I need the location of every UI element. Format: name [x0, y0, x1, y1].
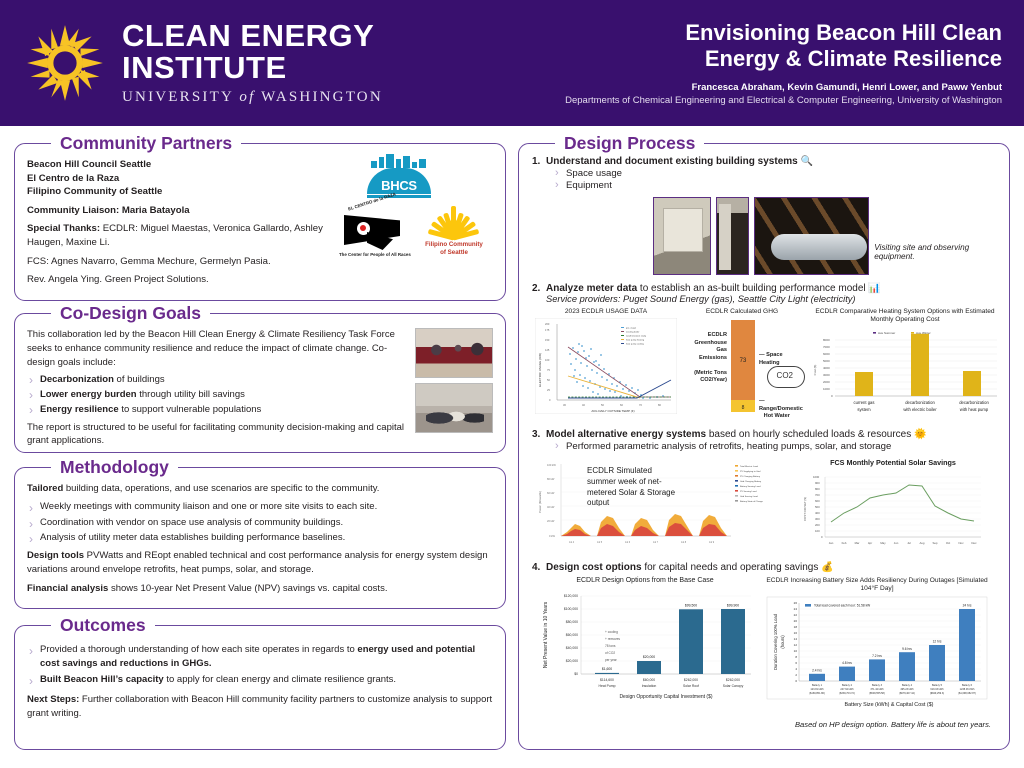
design-step-3-bullet-0: Performed parametric analysis of retrofi… — [554, 441, 999, 453]
svg-text:Nov: Nov — [959, 541, 965, 545]
cei-logo: CLEAN ENERGY INSTITUTE UNIVERSITY of WAS… — [0, 20, 500, 106]
chart-battery-svg: 262422 201816 141210 864 20 Duration Cov… — [765, 595, 989, 713]
special-thanks: Special Thanks: ECDLR: Miguel Maestas, V… — [27, 222, 333, 249]
svg-text:78 tons: 78 tons — [605, 644, 616, 648]
codesign-goal-1-rest: through utility bill savings — [137, 389, 245, 400]
svg-text:Battery State of Charge: Battery State of Charge — [740, 500, 764, 503]
chart-usage-svg: 02550 75100125 150175200 304050 607080 A… — [535, 318, 677, 414]
svg-text:($849,259.3): ($849,259.3) — [930, 692, 944, 695]
svg-text:20: 20 — [794, 619, 798, 623]
design-step-4-text: Design cost options for capital needs an… — [546, 562, 999, 573]
svg-text:Dec: Dec — [972, 541, 978, 545]
svg-text:123.81 kWh: 123.81 kWh — [810, 688, 824, 691]
svg-text:5000: 5000 — [823, 359, 830, 363]
svg-text:Grid Charging Battery: Grid Charging Battery — [740, 480, 762, 483]
methodology-tools-bold: Design tools — [27, 550, 84, 561]
svg-text:$99,900: $99,900 — [727, 603, 739, 607]
design-process-title: Design Process — [555, 133, 704, 154]
svg-text:371.42 kWh: 371.42 kWh — [870, 688, 884, 691]
svg-text:with electric boiler: with electric boiler — [903, 407, 937, 412]
design-step-1-bullet-1: Equipment — [554, 180, 999, 192]
svg-text:Battery 3: Battery 3 — [872, 684, 883, 687]
svg-text:decarbonization: decarbonization — [959, 400, 989, 405]
design-step-1-text: Understand and document existing buildin… — [546, 156, 999, 193]
methodology-financial-bold: Financial analysis — [27, 583, 108, 594]
chart-battery-resiliency: ECDLR Increasing Battery Size Adds Resil… — [765, 577, 989, 718]
svg-text:12: 12 — [794, 643, 798, 647]
design-step-1-bold: Understand and document existing buildin… — [546, 156, 798, 167]
filipino-logo-text: Filipino Community of Seattle — [417, 241, 491, 257]
duct-photo — [754, 197, 869, 275]
svg-text:COST OFFSET ($): COST OFFSET ($) — [803, 497, 807, 521]
svg-text:4000: 4000 — [823, 366, 830, 370]
svg-text:Battery 5: Battery 5 — [932, 684, 943, 687]
svg-text:($339,703.72): ($339,703.72) — [839, 692, 855, 695]
svg-text:495.23 kWh: 495.23 kWh — [900, 688, 914, 691]
svg-text:6000: 6000 — [823, 352, 830, 356]
design-step-2-sub: Service providers: Puget Sound Energy (g… — [546, 294, 999, 304]
svg-text:Jan: Jan — [829, 541, 834, 545]
svg-text:existing boiler: existing boiler — [626, 331, 640, 334]
svg-text:Sep: Sep — [933, 541, 938, 545]
svg-text:Jul 4: Jul 4 — [569, 541, 575, 544]
poster-title-block: Envisioning Beacon Hill Clean Energy & C… — [500, 20, 1024, 107]
design-step-1-bullet-0: Space usage — [554, 168, 999, 180]
svg-text:900: 900 — [815, 481, 820, 485]
methodology-financial-rest: shows 10-year Net Present Value (NPV) sa… — [108, 583, 387, 594]
boiler-photo — [653, 197, 711, 275]
sunburst-icon — [22, 20, 108, 106]
svg-text:175: 175 — [545, 328, 550, 332]
el-centro-bottom-text: The Center for People of All Races — [339, 252, 411, 257]
fcs-thanks: FCS: Agnes Navarro, Gemma Mechure, Germe… — [27, 255, 333, 269]
codesign-goal-0-bold: Decarbonization — [40, 374, 114, 385]
svg-text:($509,555.58): ($509,555.58) — [869, 692, 885, 695]
poster-title-line-1: Envisioning Beacon Hill Clean — [500, 20, 1002, 46]
svg-text:$80,000: $80,000 — [566, 620, 578, 624]
svg-text:Ave Summer: Ave Summer — [878, 331, 895, 335]
svg-text:$1,600: $1,600 — [602, 667, 612, 671]
community-hall-photo — [415, 383, 493, 433]
chart-npv-title: ECDLR Design Options from the Base Case — [533, 577, 757, 586]
codesign-goal-0-rest: of buildings — [114, 374, 165, 385]
chart-solar-storage-svg: 100 kW80 kW60 kW 40 kW20 kW0 kW Power (K… — [535, 458, 781, 546]
coin-icon: 💰 — [821, 562, 833, 573]
step2-charts-row: 2023 ECDLR USAGE DATA 02550 75100125 150… — [535, 308, 999, 421]
svg-text:$114,600: $114,600 — [600, 678, 614, 682]
svg-text:Insulation: Insulation — [642, 684, 657, 688]
chart-ecdlr-ghg: ECDLR Calculated GHG ECDLRGreenhouseGasE… — [683, 308, 801, 421]
outcomes-title: Outcomes — [51, 615, 155, 636]
svg-text:Mar: Mar — [855, 541, 860, 545]
svg-text:20 kW: 20 kW — [547, 519, 555, 523]
svg-text:9.6 hrs: 9.6 hrs — [902, 647, 912, 651]
svg-text:Jul 6: Jul 6 — [625, 541, 631, 544]
design-step-3-num: 3. — [529, 429, 546, 453]
methodology-lead: Tailored building data, operations, and … — [27, 482, 493, 496]
svg-text:0 kW: 0 kW — [549, 534, 555, 538]
chart-battery-title: ECDLR Increasing Battery Size Adds Resil… — [765, 577, 989, 593]
methodology-bullet-1: Coordination with vendor on space use an… — [27, 516, 493, 530]
site-photos-row: Visiting site and observing equipment. — [653, 197, 999, 275]
co2-label: CO2 — [777, 371, 793, 380]
svg-text:$262,000: $262,000 — [684, 678, 698, 682]
svg-text:Grid Serving Load: Grid Serving Load — [740, 495, 758, 498]
panel-design-process: Design Process 1. Understand and documen… — [518, 143, 1010, 750]
design-step-4-num: 4. — [529, 562, 546, 573]
svg-text:($169,851.86): ($169,851.86) — [809, 692, 825, 695]
svg-text:619.03 kWh: 619.03 kWh — [930, 688, 944, 691]
bhcs-logo: BHCS — [367, 154, 431, 198]
svg-text:with heat pump: with heat pump — [960, 407, 989, 412]
chart-ghg-left-label: ECDLRGreenhouseGasEmissions(Metric TonsC… — [683, 332, 727, 385]
methodology-body: Tailored building data, operations, and … — [15, 468, 505, 608]
svg-text:22: 22 — [794, 613, 798, 617]
logo-line-2: INSTITUTE — [122, 52, 383, 84]
svg-text:heat pump heating: heat pump heating — [626, 339, 645, 342]
svg-text:Feb: Feb — [842, 541, 847, 545]
rev-thanks: Rev. Angela Ying. Green Project Solution… — [27, 273, 333, 287]
svg-text:1000: 1000 — [813, 475, 820, 479]
panel-methodology: Methodology Tailored building data, oper… — [14, 467, 506, 609]
svg-text:10: 10 — [794, 649, 798, 653]
mechanical-room-photo — [716, 197, 749, 275]
community-liaison: Community Liaison: Maria Batayola — [27, 204, 333, 218]
bhcs-skyline-icon — [367, 154, 431, 168]
panel-codesign-goals: Co-Design Goals This collaboration led b… — [14, 313, 506, 453]
outcomes-next-steps: Next Steps: Further collaboration with B… — [27, 693, 493, 722]
outcomes-bullets: Provided a thorough understanding of how… — [27, 643, 493, 687]
svg-text:$20,000: $20,000 — [643, 655, 655, 659]
svg-text:Jun: Jun — [894, 541, 899, 545]
chart-ghg-seg-hot-water: — Range/Domestic Hot Water — [759, 398, 803, 421]
svg-text:14: 14 — [794, 637, 798, 641]
svg-text:150: 150 — [545, 338, 550, 342]
design-step-2-rest: to establish an as-built building perfor… — [637, 283, 865, 294]
chart-npv-svg: $120,000$100,000$80,000 $60,000$40,000$2… — [533, 588, 757, 706]
methodology-title: Methodology — [51, 457, 178, 478]
outcomes-next-rest: Further collaboration with Beacon Hill c… — [27, 694, 492, 719]
svg-text:100 kW: 100 kW — [547, 463, 556, 467]
partner-0: Beacon Hill Council Seattle — [27, 158, 333, 172]
svg-text:per year: per year — [605, 658, 618, 662]
chart-usage-title: 2023 ECDLR USAGE DATA — [535, 308, 677, 316]
svg-text:ELECTRIC USAGE (KW): ELECTRIC USAGE (KW) — [538, 353, 542, 387]
poster-header: CLEAN ENERGY INSTITUTE UNIVERSITY of WAS… — [0, 0, 1024, 126]
design-step-2-bold: Analyze meter data — [546, 283, 637, 294]
svg-text:Duration Covering 100% Load: Duration Covering 100% Load — [773, 614, 778, 671]
codesign-text: This collaboration led by the Beacon Hil… — [27, 328, 415, 452]
design-step-1-num: 1. — [529, 156, 546, 193]
svg-text:40 kW: 40 kW — [547, 505, 555, 509]
svg-text:3000: 3000 — [823, 373, 830, 377]
filipino-community-logo: Filipino Community of Seattle — [417, 204, 491, 262]
svg-text:125: 125 — [545, 348, 550, 352]
svg-text:current gas: current gas — [854, 400, 875, 405]
chart-fcs-svg: 1000900800 700600500 400300200 1000 COST… — [795, 469, 991, 549]
svg-text:Total load covered each hour:: Total load covered each hour: 51.58 kW — [814, 604, 870, 608]
el-centro-logo: EL CENTRO de la RAZA The Center for Peop… — [337, 198, 407, 260]
design-step-3-text: Model alternative energy systems based o… — [546, 429, 999, 453]
methodology-lead-bold: Tailored — [27, 483, 63, 494]
svg-text:($1,698,082.87): ($1,698,082.87) — [958, 692, 976, 695]
partner-2: Filipino Community of Seattle — [27, 185, 333, 199]
svg-text:80 kW: 80 kW — [547, 477, 555, 481]
svg-text:(hours): (hours) — [780, 635, 785, 649]
svg-text:+ cooling: + cooling — [605, 630, 618, 634]
svg-text:$99,500: $99,500 — [685, 603, 697, 607]
chart-heating-options: ECDLR Comparative Heating System Options… — [807, 308, 1003, 421]
svg-text:AVG DAILY OUTSIDE TEMP (F): AVG DAILY OUTSIDE TEMP (F) — [591, 409, 634, 413]
methodology-bullets: Weekly meetings with community liaison a… — [27, 500, 493, 545]
svg-text:400: 400 — [815, 511, 820, 515]
svg-text:26: 26 — [794, 601, 798, 605]
svg-text:60 kW: 60 kW — [547, 491, 555, 495]
logo-line-1: CLEAN ENERGY — [122, 20, 383, 52]
svg-text:$0: $0 — [574, 672, 578, 676]
svg-text:$20,000: $20,000 — [566, 659, 578, 663]
svg-text:247.62 kWh: 247.62 kWh — [840, 688, 854, 691]
svg-text:7.2 hrs: 7.2 hrs — [872, 654, 882, 658]
svg-text:system: system — [857, 407, 871, 412]
codesign-goal-list: Decarbonization of buildings Lower energ… — [27, 373, 407, 416]
poster-title-line-2: Energy & Climate Resilience — [500, 46, 1002, 72]
codesign-goal-1: Lower energy burden through utility bill… — [27, 388, 407, 402]
codesign-goal-2: Energy resilience to support vulnerable … — [27, 403, 407, 417]
codesign-goal-1-bold: Lower energy burden — [40, 389, 137, 400]
svg-text:73: 73 — [740, 358, 747, 364]
logo-of: of — [239, 89, 255, 105]
outcomes-bullet-0: Provided a thorough understanding of how… — [27, 643, 493, 672]
svg-text:Jul: Jul — [907, 541, 911, 545]
filipino-line-1: Filipino Community — [417, 241, 491, 249]
design-step-4-bold: Design cost options — [546, 562, 642, 573]
svg-text:Battery 2: Battery 2 — [842, 684, 853, 687]
step3-charts-row: 100 kW80 kW60 kW 40 kW20 kW0 kW Power (K… — [535, 458, 999, 554]
methodology-tools: Design tools PVWatts and REopt enabled t… — [27, 549, 493, 578]
design-step-3-rest: based on hourly scheduled loads & resour… — [706, 429, 911, 440]
svg-text:Jul 7: Jul 7 — [653, 541, 659, 544]
svg-text:PV Supplying to Grid: PV Supplying to Grid — [740, 470, 761, 473]
poster-departments: Departments of Chemical Engineering and … — [500, 95, 1002, 106]
step4-charts-row: ECDLR Design Options from the Base Case … — [533, 577, 999, 718]
codesign-goal-0: Decarbonization of buildings — [27, 373, 407, 387]
svg-text:gas usage: gas usage — [626, 328, 637, 330]
svg-text:weatherization study: weatherization study — [626, 335, 647, 338]
codesign-goal-2-bold: Energy resilience — [40, 404, 119, 415]
svg-text:18: 18 — [794, 625, 798, 629]
svg-text:700: 700 — [815, 493, 820, 497]
svg-text:Battery 6: Battery 6 — [962, 684, 973, 687]
svg-text:$100,000: $100,000 — [564, 607, 578, 611]
svg-text:200: 200 — [545, 322, 550, 326]
svg-text:8: 8 — [742, 405, 745, 411]
chart-heating-title: ECDLR Comparative Heating System Options… — [807, 308, 1003, 324]
svg-text:PV Charging Battery: PV Charging Battery — [740, 475, 761, 478]
design-step-1: 1. Understand and document existing buil… — [529, 156, 999, 193]
partner-1: El Centro de la Raza — [27, 172, 333, 186]
svg-text:Jul 8: Jul 8 — [681, 541, 687, 544]
magnifier-icon: 🔍 — [801, 156, 813, 167]
chart-ghg-bar: 73 8 — [731, 320, 755, 412]
svg-text:800: 800 — [815, 487, 820, 491]
svg-text:$60,000: $60,000 — [643, 678, 655, 682]
design-step-4-rest: for capital needs and operating savings — [642, 562, 819, 573]
chart-fcs-title: FCS Monthly Potential Solar Savings — [795, 458, 991, 467]
svg-text:Net Present Value in 10 Years: Net Present Value in 10 Years — [543, 601, 549, 668]
bar-chart-icon: 📊 — [868, 283, 880, 294]
svg-text:Heat Pump: Heat Pump — [599, 684, 616, 688]
svg-text:Jul 5: Jul 5 — [597, 541, 603, 544]
svg-text:Battery 4: Battery 4 — [902, 684, 913, 687]
svg-text:Solar Roof: Solar Roof — [683, 684, 699, 688]
svg-text:300: 300 — [815, 517, 820, 521]
sun-icon: 🌞 — [914, 429, 926, 440]
chart-ghg-seg-space-heating: — Space Heating — [759, 352, 801, 367]
chart-design-options-npv: ECDLR Design Options from the Base Case … — [533, 577, 757, 718]
special-thanks-label: Special Thanks: — [27, 223, 100, 234]
svg-text:heat pump cooling: heat pump cooling — [626, 343, 645, 346]
outcomes-next-bold: Next Steps: — [27, 694, 79, 705]
methodology-tools-rest: PVWatts and REopt enabled technical and … — [27, 550, 488, 575]
poster-root: CLEAN ENERGY INSTITUTE UNIVERSITY of WAS… — [0, 0, 1024, 768]
design-step-1-bullets: Space usage Equipment — [554, 168, 999, 193]
logo-university: UNIVERSITY — [122, 89, 233, 105]
svg-text:Apr: Apr — [868, 541, 872, 545]
panel-outcomes: Outcomes Provided a thorough understandi… — [14, 625, 506, 750]
chart-solar-storage-week: 100 kW80 kW60 kW 40 kW20 kW0 kW Power (K… — [535, 458, 781, 554]
svg-text:PV Serving Load: PV Serving Load — [740, 490, 757, 493]
codesign-title: Co-Design Goals — [51, 303, 210, 324]
svg-text:Solar Canopy: Solar Canopy — [723, 684, 744, 688]
svg-text:600: 600 — [815, 499, 820, 503]
svg-text:8000: 8000 — [823, 338, 830, 342]
logo-line-3: UNIVERSITY of WASHINGTON — [122, 89, 383, 106]
svg-text:Jul 9: Jul 9 — [709, 541, 715, 544]
svg-text:2.4 hrs: 2.4 hrs — [812, 669, 822, 673]
outcomes-bullet-1: Built Beacon Hill’s capacity to apply fo… — [27, 673, 493, 687]
outcomes-bullet-1-post: to apply for clean energy and climate re… — [164, 674, 396, 685]
svg-text:($679,407.44): ($679,407.44) — [899, 692, 915, 695]
community-partners-text: Beacon Hill Council Seattle El Centro de… — [27, 158, 333, 292]
site-photos-caption: Visiting site and observing equipment. — [874, 243, 999, 261]
methodology-bullet-2: Analysis of utility meter data establish… — [27, 531, 493, 545]
el-centro-accent-icon — [360, 225, 366, 231]
design-step-2-text: Analyze meter data to establish an as-bu… — [546, 283, 999, 304]
svg-text:$60,000: $60,000 — [566, 633, 578, 637]
filipino-line-2: of Seattle — [417, 249, 491, 257]
logo-washington: WASHINGTON — [261, 89, 383, 105]
svg-text:500: 500 — [815, 505, 820, 509]
svg-text:24: 24 — [794, 607, 798, 611]
outcomes-bullet-1-bold: Built Beacon Hill’s capacity — [40, 674, 164, 685]
svg-text:Design Opportunity Capital Inv: Design Opportunity Capital Investment ($… — [619, 694, 712, 700]
design-step-2: 2. Analyze meter data to establish an as… — [529, 283, 999, 304]
svg-text:+ removes: + removes — [605, 637, 620, 641]
chart-ecdlr-usage-data: 2023 ECDLR USAGE DATA 02550 75100125 150… — [535, 308, 677, 421]
partner-logos: BHCS EL CENTRO de la RAZA The Center for… — [333, 158, 493, 292]
svg-text:Oct: Oct — [946, 541, 951, 545]
design-step-4: 4. Design cost options for capital needs… — [529, 562, 999, 573]
chart-heating-svg: 800070006000 500040003000 200010000 Cost… — [807, 326, 1003, 416]
codesign-outro: The report is structured to be useful fo… — [27, 421, 407, 449]
codesign-photos — [415, 328, 493, 452]
filipino-sun-icon — [417, 204, 491, 238]
chart-fcs-solar-savings: FCS Monthly Potential Solar Savings — [795, 458, 991, 554]
svg-text:100: 100 — [815, 529, 820, 533]
svg-text:Power (Kilowatts): Power (Kilowatts) — [538, 491, 542, 513]
svg-text:2000: 2000 — [823, 380, 830, 384]
svg-text:$120,000: $120,000 — [564, 594, 578, 598]
svg-text:7000: 7000 — [823, 345, 830, 349]
codesign-intro: This collaboration led by the Beacon Hil… — [27, 328, 407, 369]
poster-authors: Francesca Abraham, Kevin Gamundi, Henri … — [500, 82, 1002, 93]
svg-text:May: May — [880, 541, 886, 545]
svg-text:4.8 hrs: 4.8 hrs — [842, 662, 852, 666]
svg-text:1238.06 kWh: 1238.06 kWh — [960, 688, 975, 691]
svg-text:$40,000: $40,000 — [566, 646, 578, 650]
outcomes-body: Provided a thorough understanding of how… — [15, 626, 505, 733]
battery-note: Based on HP design option. Battery life … — [529, 720, 999, 729]
codesign-goal-2-rest: to support vulnerable populations — [119, 404, 262, 415]
svg-text:12 hrs: 12 hrs — [933, 640, 942, 644]
svg-text:200: 200 — [815, 523, 820, 527]
svg-text:16: 16 — [794, 631, 798, 635]
svg-text:1000: 1000 — [823, 387, 830, 391]
design-step-2-num: 2. — [529, 283, 546, 304]
panel-community-partners: Community Partners Beacon Hill Council S… — [14, 143, 506, 301]
bhcs-wordmark: BHCS — [367, 168, 431, 194]
svg-text:of CO2: of CO2 — [605, 651, 615, 655]
svg-text:Battery Size (kWh) & Capital C: Battery Size (kWh) & Capital Cost ($) — [845, 702, 934, 708]
chart-ghg-body: ECDLRGreenhouseGasEmissions(Metric TonsC… — [683, 318, 801, 418]
svg-text:Aug: Aug — [920, 541, 925, 545]
svg-text:Cost ($): Cost ($) — [813, 365, 817, 376]
svg-text:Battery 1: Battery 1 — [812, 684, 823, 687]
methodology-bullet-0: Weekly meetings with community liaison a… — [27, 500, 493, 514]
chart-ghg-title: ECDLR Calculated GHG — [683, 308, 801, 316]
svg-text:Battery Serving Load: Battery Serving Load — [740, 485, 761, 488]
svg-text:$262,000: $262,000 — [726, 678, 740, 682]
methodology-financial: Financial analysis shows 10-year Net Pre… — [27, 582, 493, 596]
outcomes-bullet-0-pre: Provided a thorough understanding of how… — [40, 644, 357, 655]
community-partners-title: Community Partners — [51, 133, 241, 154]
design-step-3-bullets: Performed parametric analysis of retrofi… — [554, 441, 999, 453]
svg-text:100: 100 — [545, 358, 550, 362]
svg-text:24 hrs: 24 hrs — [963, 604, 972, 608]
design-step-3: 3. Model alternative energy systems base… — [529, 429, 999, 453]
design-step-3-bold: Model alternative energy systems — [546, 429, 706, 440]
methodology-lead-rest: building data, operations, and use scena… — [63, 483, 379, 494]
community-meeting-photo — [415, 328, 493, 378]
svg-text:decarbonization: decarbonization — [905, 400, 935, 405]
svg-text:Total Electric Load: Total Electric Load — [740, 465, 759, 468]
